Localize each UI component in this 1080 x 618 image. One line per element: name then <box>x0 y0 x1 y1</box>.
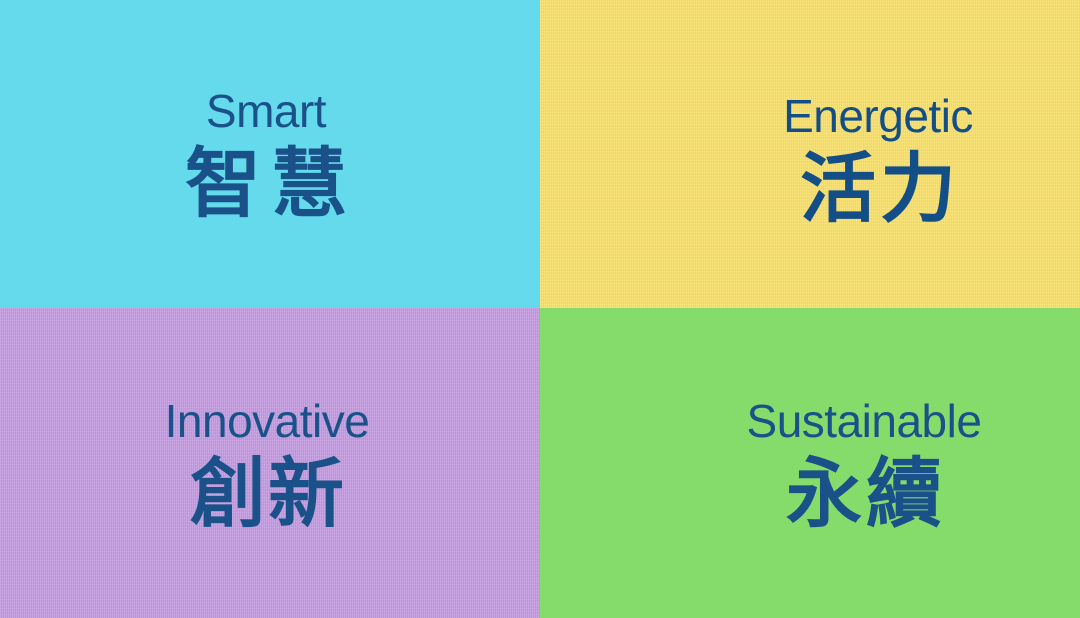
value-tile-innovative[interactable]: Innovative 創新 <box>0 308 540 618</box>
value-tile-sustainable[interactable]: Sustainable 永續 <box>540 308 1080 618</box>
value-label-en-smart: Smart <box>206 88 326 134</box>
tile-content-innovative: Innovative 創新 <box>165 398 370 532</box>
value-label-zh-smart: 智慧 <box>185 146 357 222</box>
value-label-en-innovative: Innovative <box>165 398 370 444</box>
value-label-zh-energetic: 活力 <box>800 151 960 227</box>
tile-content-sustainable: Sustainable 永續 <box>747 398 982 532</box>
value-label-zh-innovative: 創新 <box>190 456 346 532</box>
value-label-zh-sustainable: 永續 <box>786 456 946 532</box>
tile-content-energetic: Energetic 活力 <box>783 93 973 227</box>
tile-content-smart: Smart 智慧 <box>175 88 357 222</box>
value-label-en-energetic: Energetic <box>783 93 973 139</box>
brand-values-grid: Smart 智慧 Energetic 活力 Innovative 創新 Sust… <box>0 0 1080 618</box>
value-label-en-sustainable: Sustainable <box>747 398 982 444</box>
value-tile-smart[interactable]: Smart 智慧 <box>0 0 540 308</box>
value-tile-energetic[interactable]: Energetic 活力 <box>540 0 1080 308</box>
